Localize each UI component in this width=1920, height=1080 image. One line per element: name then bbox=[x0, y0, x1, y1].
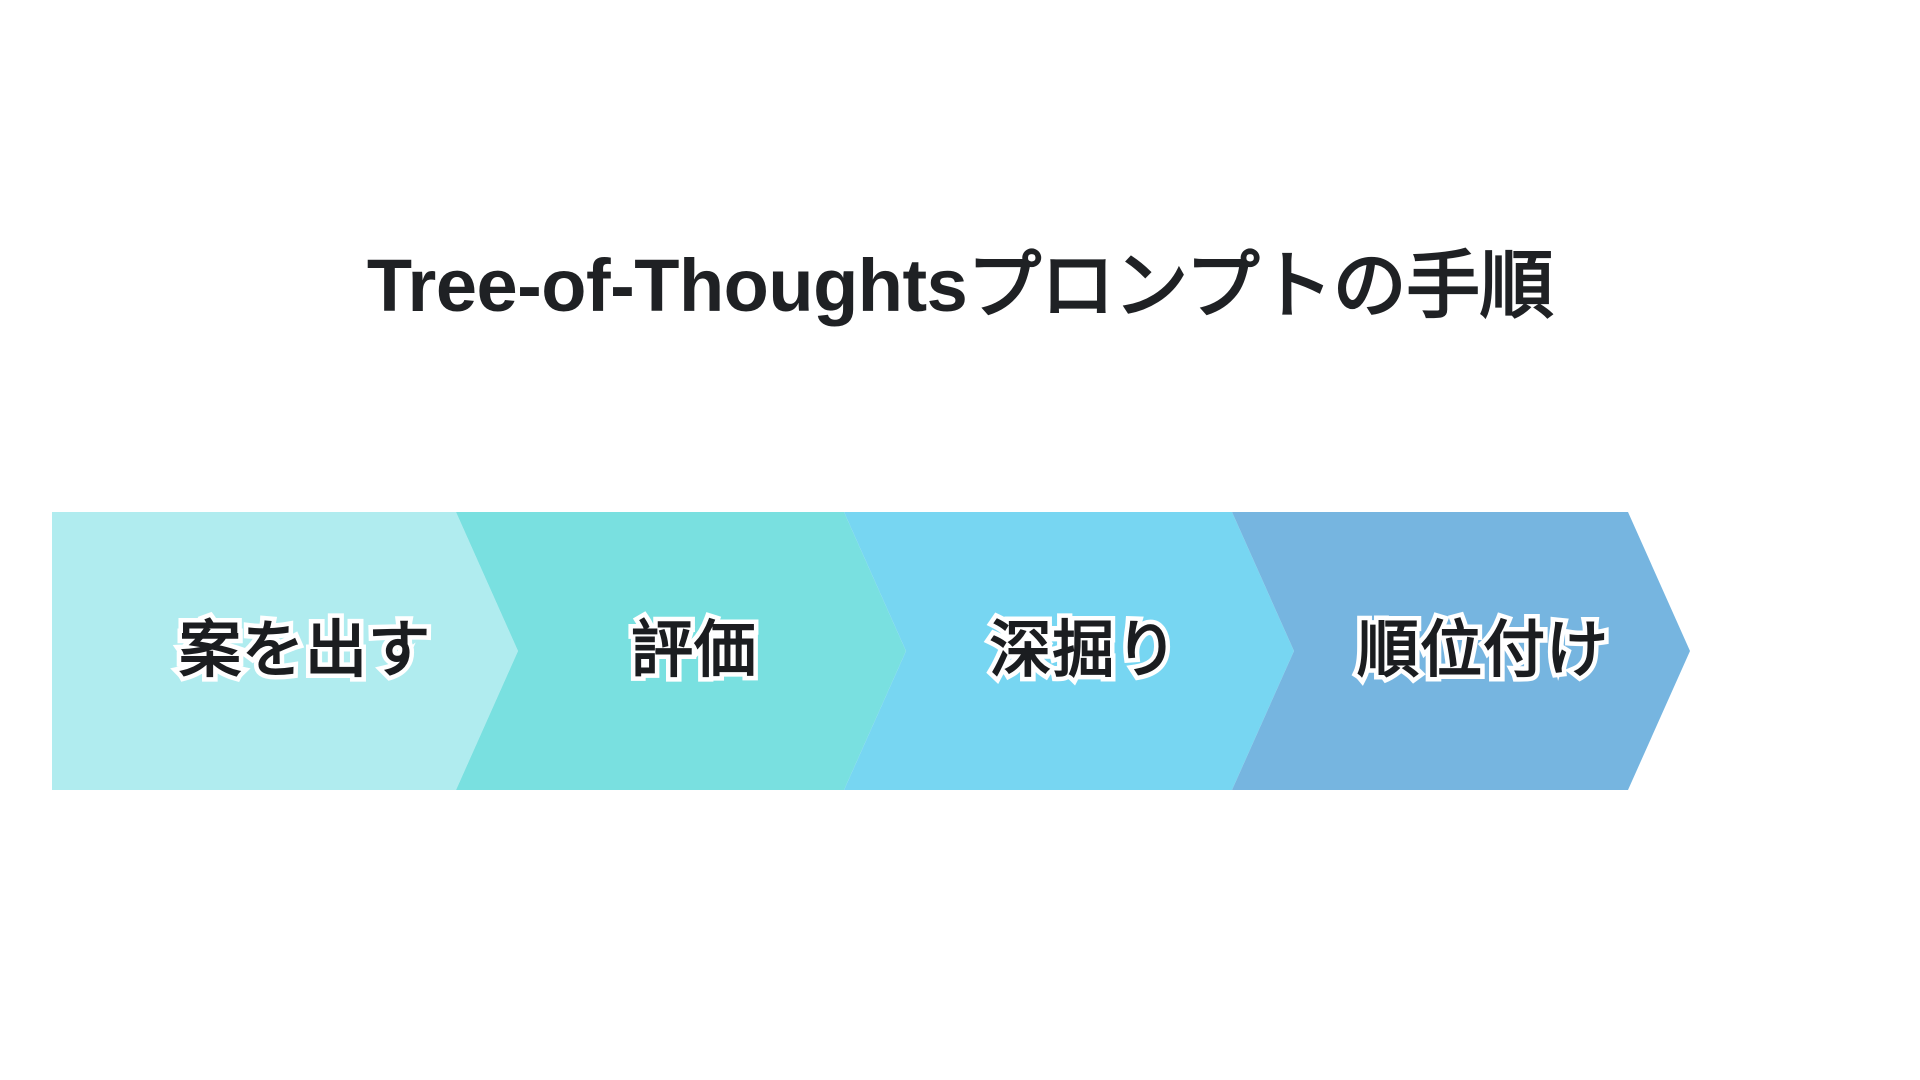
slide-canvas: Tree-of-Thoughtsプロンプトの手順 案を出す 評価 bbox=[0, 0, 1920, 1080]
flow-step-3-label: 深掘り bbox=[959, 620, 1178, 682]
flow-step-4-label: 順位付け bbox=[1313, 620, 1609, 682]
flow-step-2[interactable]: 評価 bbox=[456, 512, 906, 790]
flow-step-1-label: 案を出す bbox=[139, 620, 431, 682]
flow-step-2-label: 評価 bbox=[605, 620, 757, 682]
flow-step-3[interactable]: 深掘り bbox=[844, 512, 1294, 790]
flow-step-4[interactable]: 順位付け bbox=[1232, 512, 1690, 790]
process-flow-diagram: 案を出す 評価 深掘り bbox=[52, 512, 1876, 790]
flow-step-1[interactable]: 案を出す bbox=[52, 512, 518, 790]
page-title: Tree-of-Thoughtsプロンプトの手順 bbox=[367, 246, 1553, 326]
page-title-container: Tree-of-Thoughtsプロンプトの手順 bbox=[0, 196, 1920, 375]
